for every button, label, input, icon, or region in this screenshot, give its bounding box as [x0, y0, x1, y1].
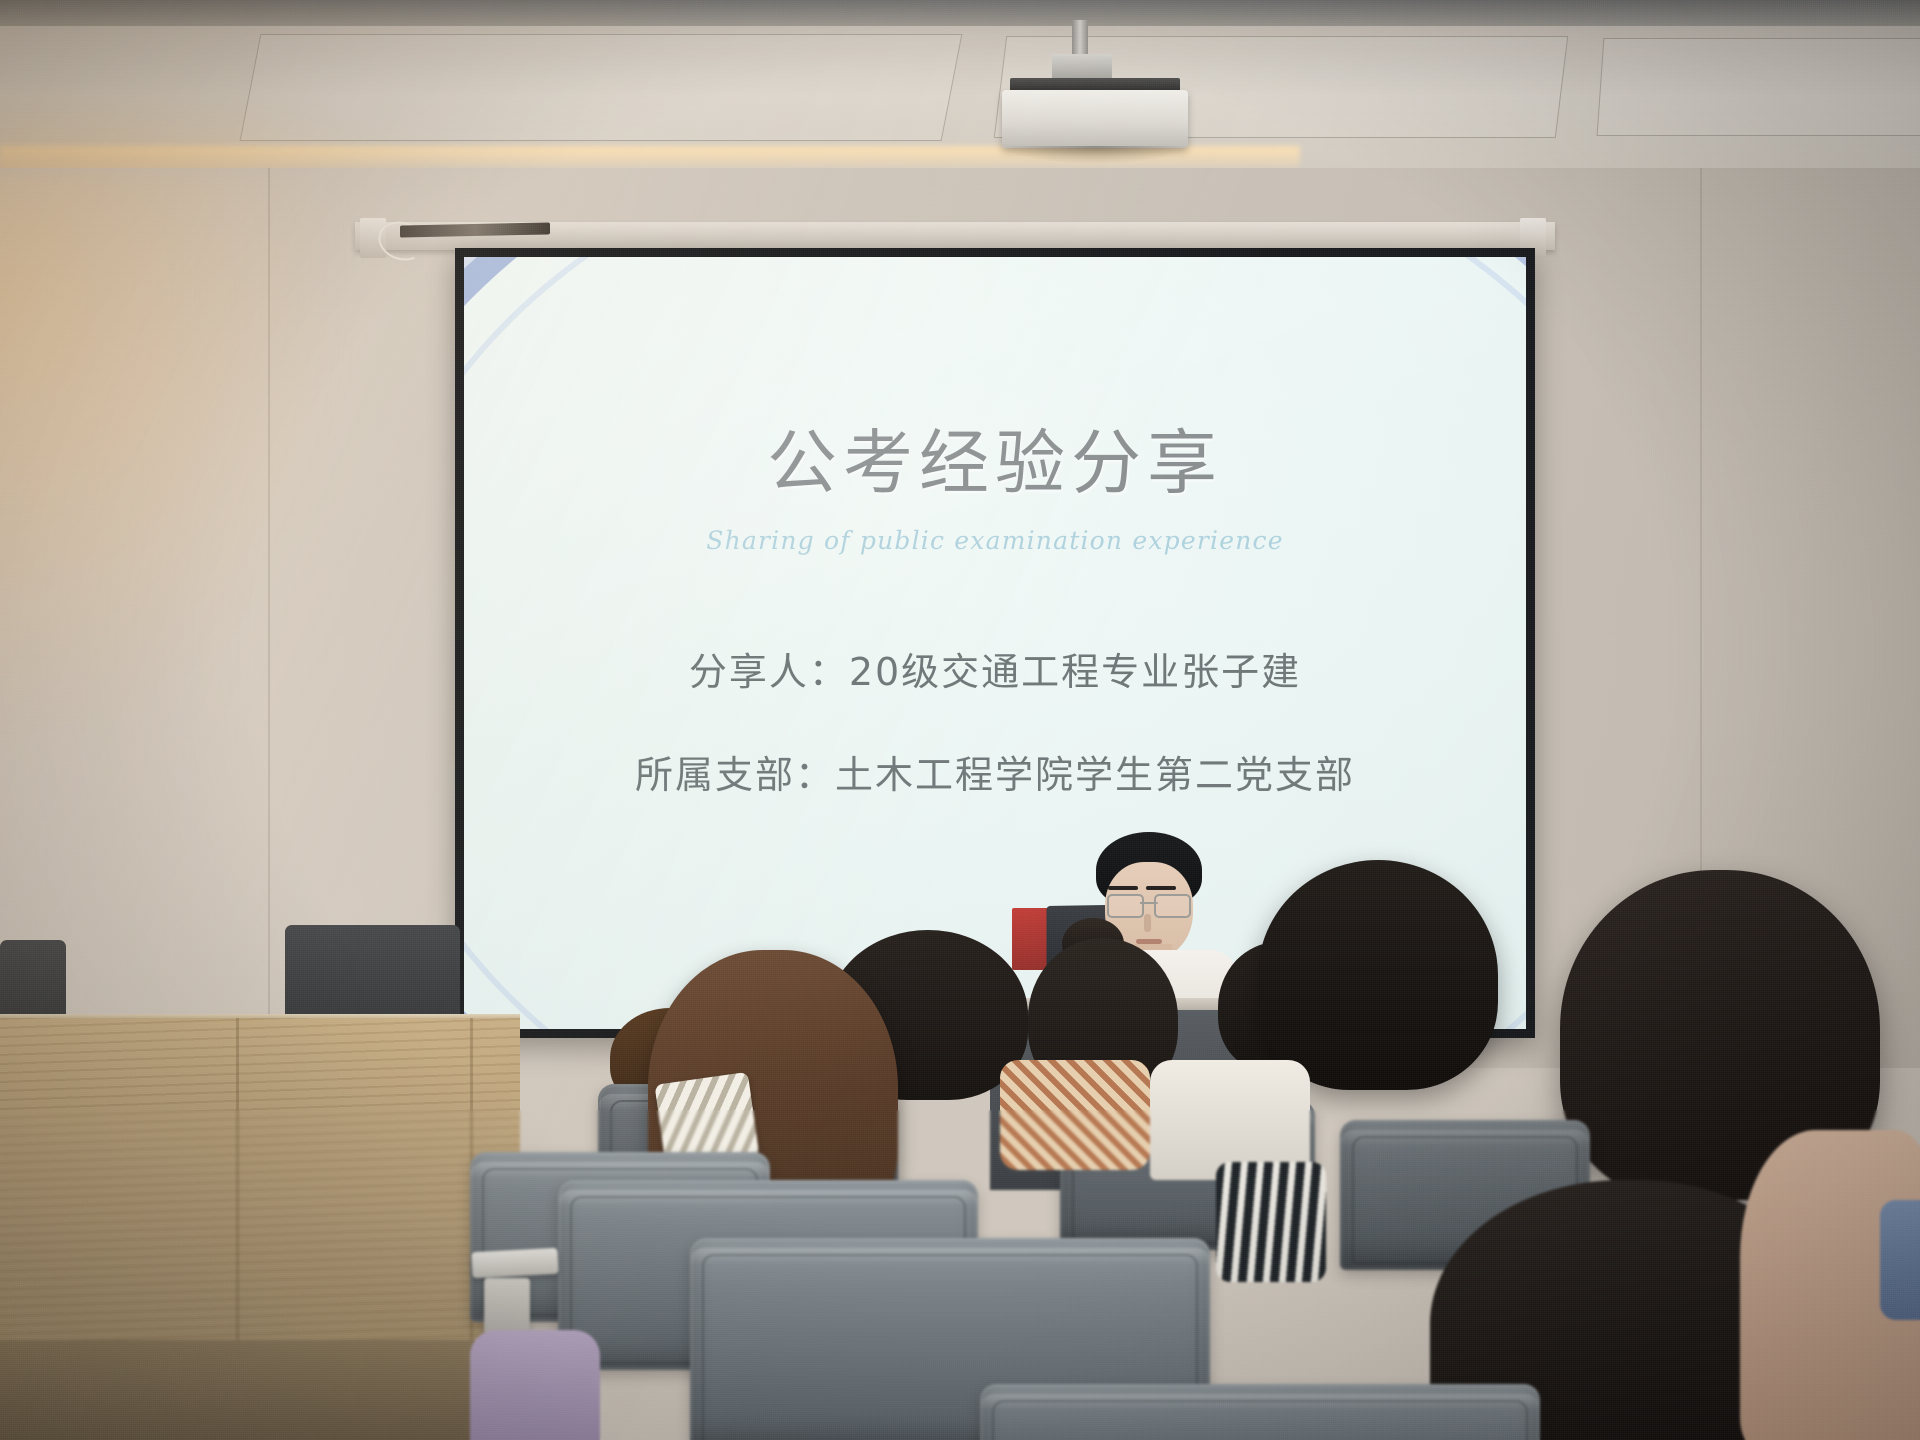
- slide-presenter-line: 分享人：20级交通工程专业张子建: [689, 641, 1301, 696]
- projector-mount-bracket: [1052, 54, 1112, 80]
- projector: [1000, 20, 1190, 150]
- projector-shadow: [1000, 146, 1190, 164]
- presenter-eyebrow: [1146, 886, 1176, 890]
- ceiling-dark-strip: [0, 0, 1920, 26]
- eyeglass-lens: [1107, 894, 1144, 918]
- ceiling-panel: [1597, 38, 1920, 136]
- lecture-hall-photo: 公考经验分享 Sharing of public examination exp…: [0, 0, 1920, 1440]
- wall-seam: [268, 168, 270, 1068]
- wood-panel-seam: [236, 1018, 239, 1348]
- slide-subtitle: Sharing of public examination experience: [706, 526, 1283, 555]
- audience-head: [1258, 860, 1498, 1090]
- eyeglass-lens: [1154, 894, 1191, 918]
- eyeglasses-icon: [1107, 894, 1191, 914]
- slide-branch-line: 所属支部：土木工程学院学生第二党支部: [635, 744, 1355, 799]
- audience-sleeve: [1880, 1200, 1920, 1320]
- presenter-eyebrow: [1108, 886, 1138, 890]
- slide-title: 公考经验分享: [767, 407, 1223, 508]
- seat-armrest: [471, 1248, 558, 1278]
- projector-body: [1002, 90, 1188, 148]
- auditorium-seat: [980, 1384, 1540, 1440]
- presenter-nose: [1144, 914, 1151, 932]
- wall-warm-glow: [0, 168, 340, 728]
- audience-shoulder: [470, 1330, 600, 1440]
- stage-chair: [285, 925, 460, 1028]
- wood-grain: [0, 1018, 520, 1348]
- stage-wood-panel: [0, 1018, 520, 1348]
- audience-shoulder: [1000, 1060, 1150, 1170]
- audience-sleeve: [1216, 1162, 1326, 1282]
